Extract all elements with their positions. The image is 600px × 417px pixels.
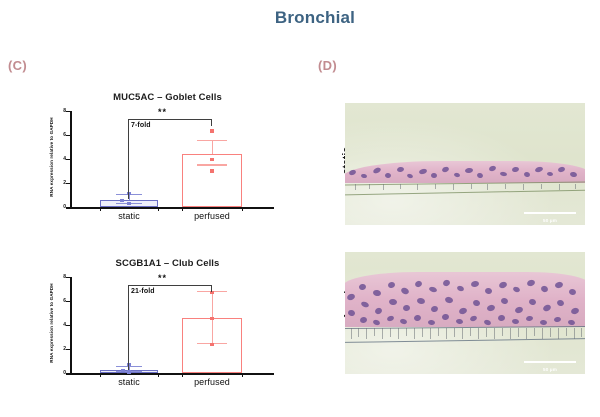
micrograph-block-static: static bbox=[345, 103, 585, 225]
fold-change-label-muc5ac: 7-fold bbox=[131, 122, 151, 129]
data-point bbox=[121, 369, 124, 372]
y-tick-label-4: 4 bbox=[56, 322, 66, 328]
y-axis-line bbox=[70, 111, 72, 207]
y-tick-label-2: 2 bbox=[56, 180, 66, 186]
data-point bbox=[210, 158, 213, 161]
x-category-static-muc5ac: static bbox=[100, 211, 158, 221]
y-tick-6 bbox=[66, 301, 70, 302]
y-tick-label-4: 4 bbox=[56, 156, 66, 162]
micrograph-image-static: 50 µm bbox=[345, 103, 585, 225]
tissue-epithelium-static bbox=[345, 161, 585, 183]
nuclei-layer-perfused bbox=[345, 272, 585, 327]
data-point bbox=[210, 129, 213, 132]
scalebar-label-static: 50 µm bbox=[524, 218, 576, 223]
micrograph-block-perfused: perfused bbox=[345, 252, 585, 374]
plot-area-scgb1a1: 0 2 4 6 8 bbox=[70, 277, 270, 373]
errorbar-cap-top-perfused-muc5ac bbox=[197, 140, 227, 141]
x-tick-right-static bbox=[158, 373, 159, 377]
y-tick-4 bbox=[66, 159, 70, 160]
plot-area-muc5ac: 0 2 4 6 8 bbox=[70, 111, 270, 207]
errorbar-perfused-muc5ac bbox=[212, 141, 213, 154]
tissue-epithelium-perfused bbox=[345, 272, 585, 327]
y-tick-0 bbox=[66, 207, 70, 208]
significance-marker-muc5ac: ** bbox=[158, 107, 167, 117]
panel-label-c: (C) bbox=[8, 58, 27, 73]
data-point bbox=[210, 317, 213, 320]
micrograph-image-perfused: 50 µm bbox=[345, 252, 585, 374]
data-point bbox=[127, 202, 130, 205]
y-tick-label-8: 8 bbox=[56, 274, 66, 280]
figure-title: Bronchial bbox=[0, 8, 600, 28]
scalebar-label-perfused: 50 µm bbox=[524, 367, 576, 372]
y-tick-label-0: 0 bbox=[56, 204, 66, 210]
data-point bbox=[210, 169, 213, 172]
chart-muc5ac: MUC5AC – Goblet Cells RNA expression rel… bbox=[48, 92, 278, 242]
chart-title-muc5ac: MUC5AC – Goblet Cells bbox=[70, 92, 265, 103]
y-tick-0 bbox=[66, 373, 70, 374]
y-tick-8 bbox=[66, 277, 70, 278]
y-tick-4 bbox=[66, 325, 70, 326]
chart-scgb1a1: SCGB1A1 – Club Cells RNA expression rela… bbox=[48, 258, 278, 408]
y-tick-label-0: 0 bbox=[56, 370, 66, 376]
y-axis-line bbox=[70, 277, 72, 373]
y-tick-8 bbox=[66, 111, 70, 112]
x-category-static-scgb1a1: static bbox=[100, 377, 158, 387]
y-tick-2 bbox=[66, 183, 70, 184]
significance-marker-scgb1a1: ** bbox=[158, 273, 167, 283]
y-tick-6 bbox=[66, 135, 70, 136]
errorbar-cap-bottom-perfused-muc5ac bbox=[197, 164, 227, 165]
y-tick-label-6: 6 bbox=[56, 298, 66, 304]
y-tick-label-2: 2 bbox=[56, 346, 66, 352]
chart-title-scgb1a1: SCGB1A1 – Club Cells bbox=[70, 258, 265, 269]
scalebar-perfused bbox=[524, 361, 576, 363]
data-point bbox=[127, 370, 130, 373]
x-category-perfused-scgb1a1: perfused bbox=[174, 377, 250, 387]
y-tick-2 bbox=[66, 349, 70, 350]
y-tick-label-6: 6 bbox=[56, 132, 66, 138]
nuclei-layer-static bbox=[345, 161, 585, 183]
y-tick-label-8: 8 bbox=[56, 108, 66, 114]
bar-perfused-muc5ac bbox=[182, 154, 242, 207]
fold-change-label-scgb1a1: 21-fold bbox=[131, 288, 155, 295]
data-point bbox=[210, 343, 213, 346]
x-category-perfused-muc5ac: perfused bbox=[174, 211, 250, 221]
x-tick-right-static bbox=[158, 207, 159, 211]
scalebar-static bbox=[524, 212, 576, 214]
panel-label-d: (D) bbox=[318, 58, 337, 73]
data-point bbox=[120, 199, 123, 202]
